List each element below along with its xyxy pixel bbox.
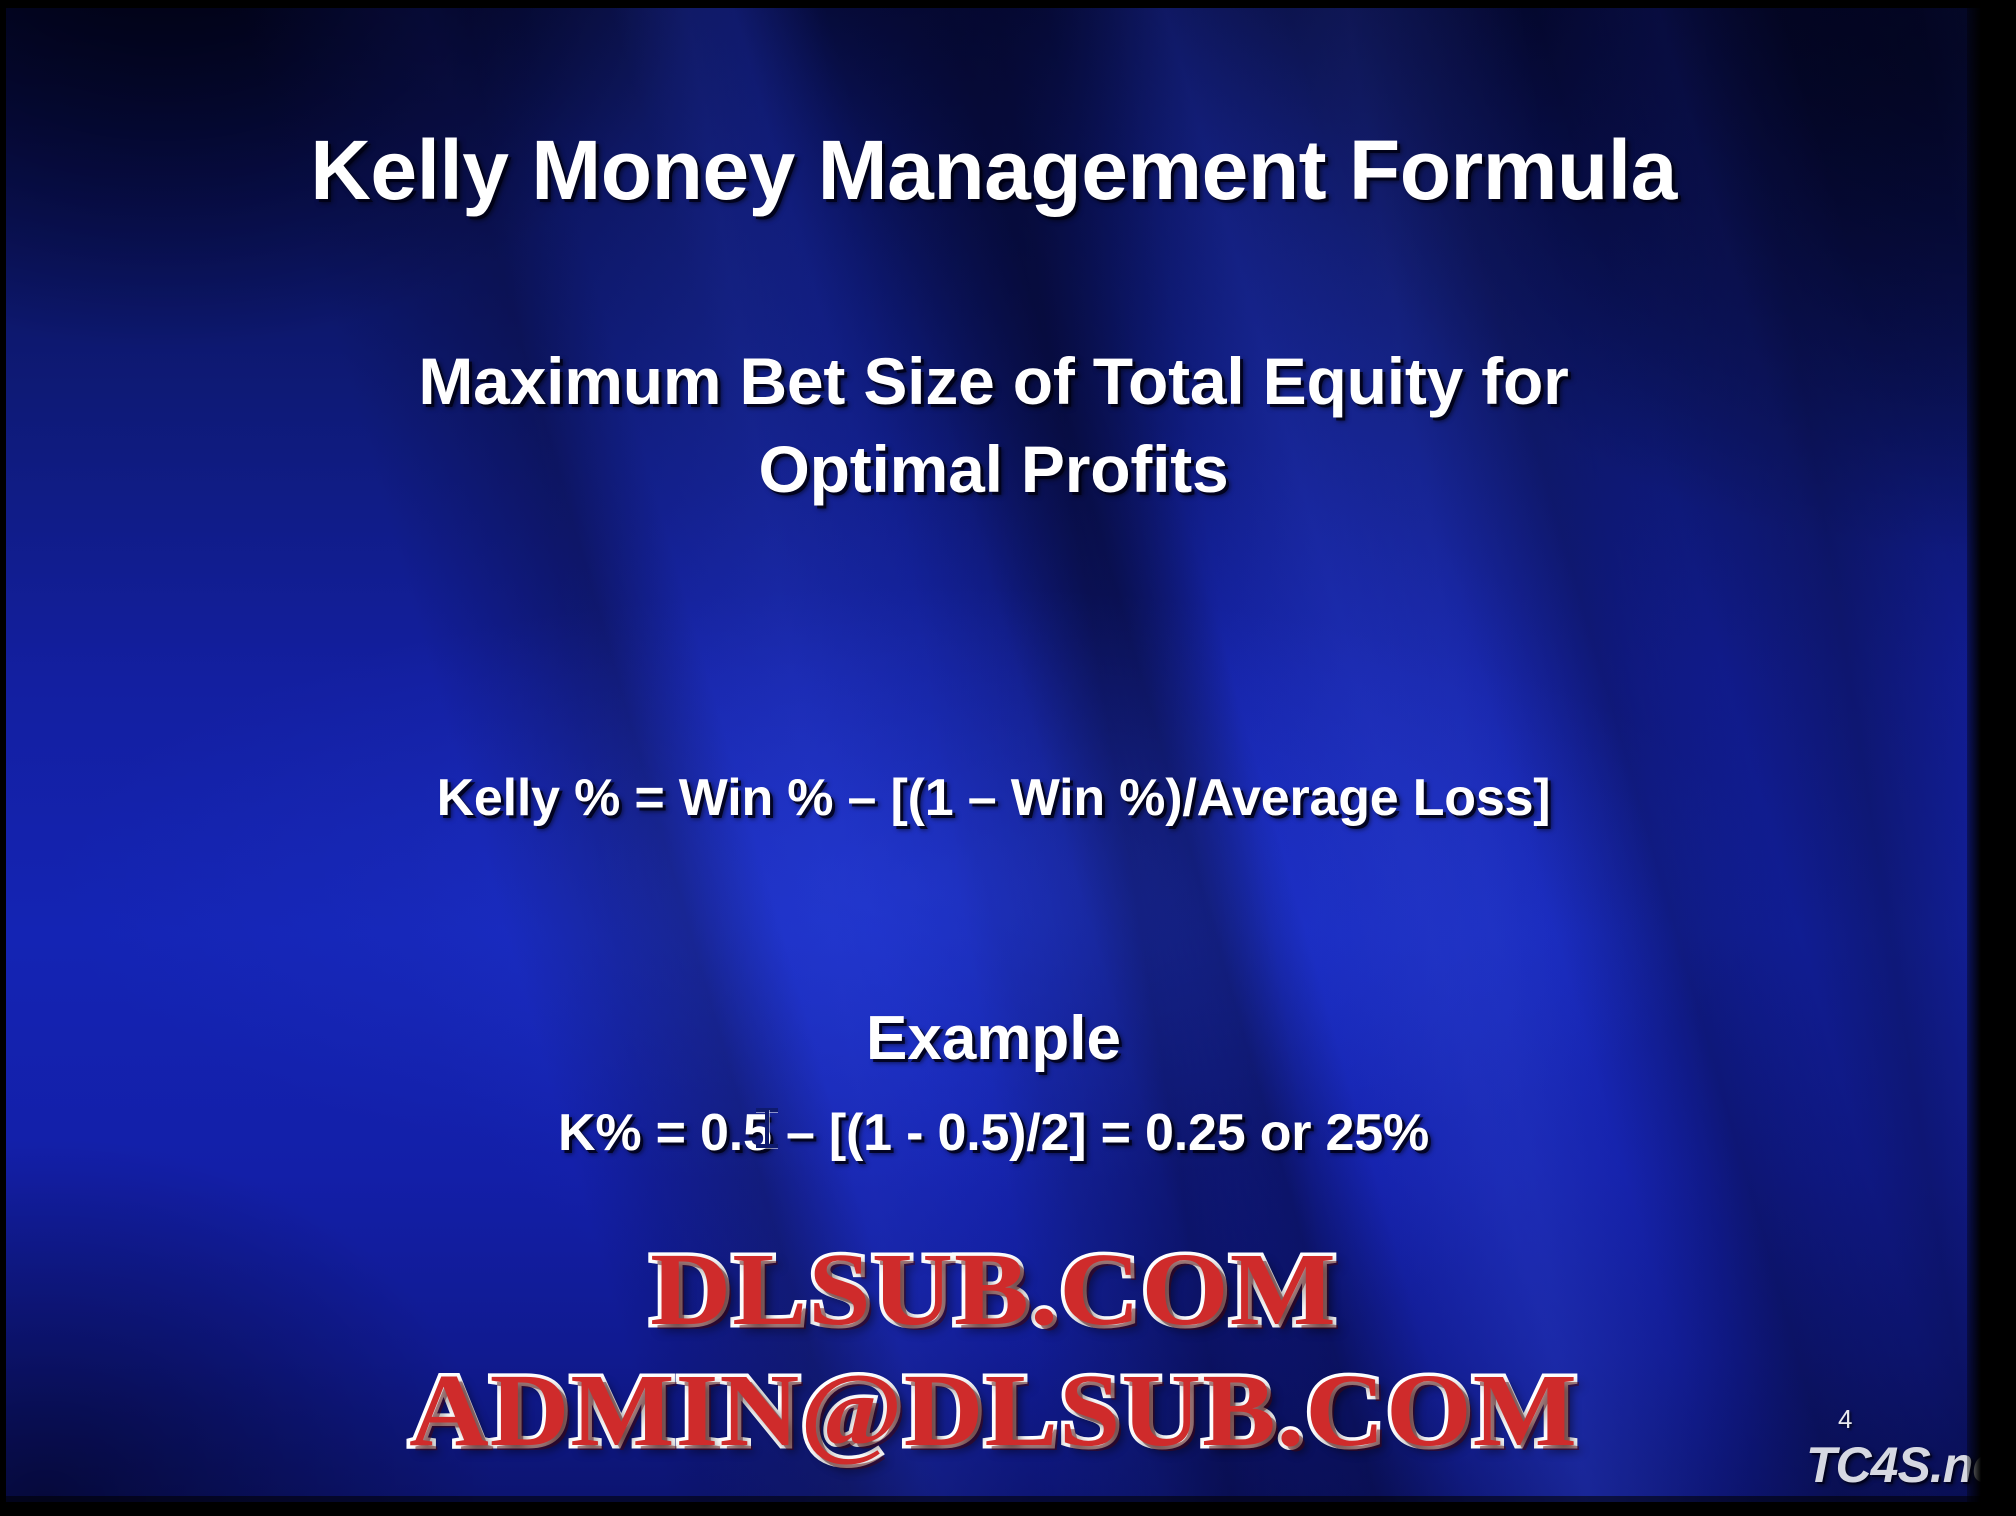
slide-right-edge-shadow	[1967, 8, 1981, 1502]
example-formula-text: K% = 0.5 – [(1 - 0.5)/2] = 0.25 or 25%	[6, 1103, 1981, 1163]
slide-subtitle-line-1: Maximum Bet Size of Total Equity for	[6, 338, 1981, 426]
slide-subtitle: Maximum Bet Size of Total Equity for Opt…	[6, 338, 1981, 514]
slide-letterbox-frame: Kelly Money Management Formula Maximum B…	[0, 0, 2016, 1516]
slide-page-number: 4	[1838, 1404, 1852, 1435]
slide-content: Kelly Money Management Formula Maximum B…	[6, 8, 1981, 1502]
watermark-email: ADMIN@DLSUB.COM	[6, 1351, 1981, 1470]
watermark-site: DLSUB.COM	[6, 1230, 1981, 1349]
example-heading: Example	[6, 1003, 1981, 1074]
slide-bottom-edge-shadow	[6, 1496, 1981, 1502]
tc4s-logo: TC4S.net	[1806, 1436, 1981, 1494]
kelly-formula-text: Kelly % = Win % – [(1 – Win %)/Average L…	[6, 768, 1981, 828]
slide-title: Kelly Money Management Formula	[6, 128, 1981, 212]
slide-subtitle-line-2: Optimal Profits	[6, 426, 1981, 514]
presentation-slide: Kelly Money Management Formula Maximum B…	[6, 8, 1981, 1502]
